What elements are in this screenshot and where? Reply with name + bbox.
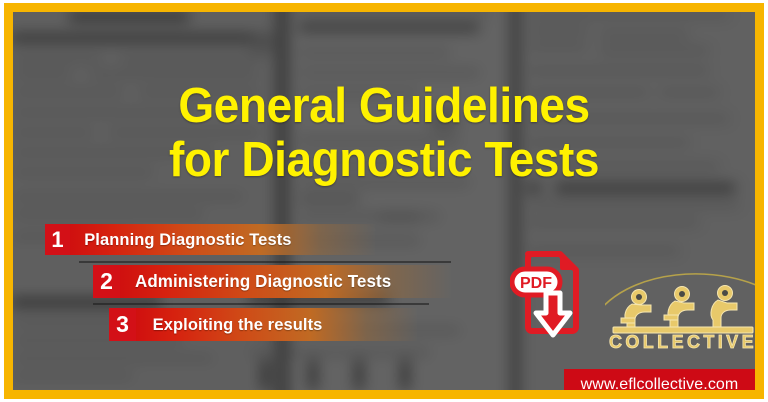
list-item-label: Administering Diagnostic Tests [135, 271, 391, 292]
pdf-badge-text: PDF [520, 275, 552, 292]
efl-collective-logo: COLLECTIVE [605, 270, 764, 356]
logo-wordmark: COLLECTIVE [609, 332, 757, 352]
list-item-bar: Planning Diagnostic Tests [70, 224, 375, 255]
page-title: General Guidelines for Diagnostic Tests [35, 79, 732, 187]
pdf-download-icon[interactable]: PDF [510, 249, 582, 339]
list-item-label: Exploiting the results [153, 315, 323, 335]
list-item-number: 1 [45, 224, 70, 255]
website-url-bar[interactable]: www.eflcollective.com [564, 369, 755, 399]
list-item[interactable]: 2 Administering Diagnostic Tests [93, 265, 451, 298]
list-item-bar: Administering Diagnostic Tests [120, 265, 451, 298]
poster: General Guidelines for Diagnostic Tests … [0, 0, 768, 402]
list-item-bar: Exploiting the results [136, 308, 417, 341]
list-item-number: 2 [93, 265, 120, 298]
page-title-line-2: for Diagnostic Tests [35, 133, 732, 187]
website-url: www.eflcollective.com [581, 376, 739, 394]
list-item-number: 3 [109, 308, 136, 341]
page-title-line-1: General Guidelines [178, 79, 589, 133]
gold-frame: General Guidelines for Diagnostic Tests … [4, 3, 764, 399]
list-item-label: Planning Diagnostic Tests [84, 230, 291, 250]
list-item[interactable]: 3 Exploiting the results [109, 308, 417, 341]
list-item[interactable]: 1 Planning Diagnostic Tests [45, 224, 375, 255]
